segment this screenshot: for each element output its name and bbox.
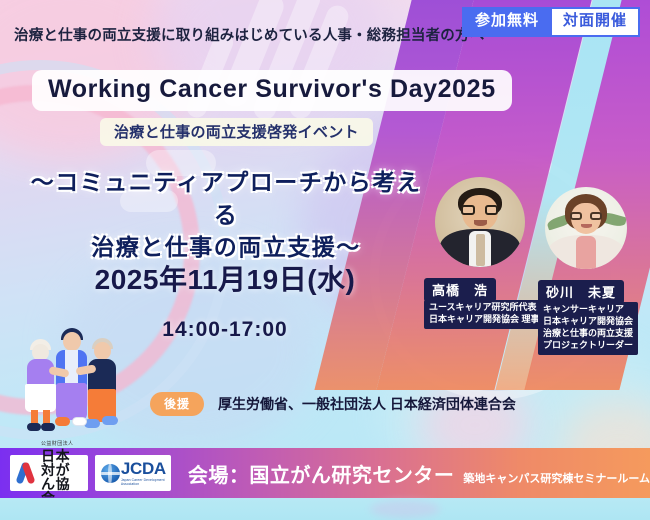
speaker-role-line: ユースキャリア研究所代表: [429, 302, 540, 314]
logo-name: JCDA: [121, 460, 166, 477]
speaker-photo-ring: [540, 182, 632, 274]
venue-name: 会場：国立がん研究センター: [188, 459, 455, 488]
event-poster: 治療と仕事の両立支援に取り組みはじめている人事・総務担当者の方へ 参加無料 対面…: [0, 0, 650, 520]
venue-detail: 築地キャンパス研究棟セミナールーム: [463, 470, 650, 486]
speaker-role: ユースキャリア研究所代表 日本キャリア開発協会 理事: [424, 300, 545, 329]
speaker-role-line: 日本キャリア開発協会: [543, 316, 633, 328]
venue-info: 会場：国立がん研究センター 築地キャンパス研究棟セミナールーム: [188, 459, 650, 488]
event-date: 2025年11月19日(水): [60, 258, 390, 298]
speaker-portrait-icon: [545, 187, 627, 269]
support-row: 後援 厚生労働省、一般社団法人 日本経済団体連合会: [150, 392, 516, 416]
subtitle-container: 治療と仕事の両立支援啓発イベント: [100, 118, 373, 146]
footer-strip: [0, 498, 650, 520]
speaker-role-line: プロジェクトリーダー: [543, 340, 633, 352]
badge-group: 参加無料 対面開催: [462, 7, 640, 37]
awareness-ribbon-icon: [16, 461, 36, 485]
footer-bar: 公益財団法人 日本対がん協会 JCDA Japan Career Develop…: [0, 448, 650, 498]
speaker-card-2: 砂川 未夏 キャンサーキャリア 日本キャリア開発協会 治療と仕事の両立支援 プロ…: [540, 182, 632, 274]
badge-onsite: 対面開催: [552, 7, 640, 37]
logo-name: 日本対がん協会: [41, 449, 82, 505]
headline: 〜コミュニティアプローチから考える 治療と仕事の両立支援〜: [26, 166, 426, 264]
logo-subtitle: Japan Career Development Association: [121, 479, 166, 486]
speaker-role-line: 日本キャリア開発協会 理事: [429, 314, 540, 326]
people-support-illustration-icon: [8, 326, 128, 444]
title-container: Working Cancer Survivor's Day2025: [32, 70, 512, 111]
speaker-role-line: 治療と仕事の両立支援: [543, 328, 633, 340]
page-subtitle: 治療と仕事の両立支援啓発イベント: [114, 121, 359, 142]
headline-line-1: 〜コミュニティアプローチから考える: [26, 166, 426, 231]
speaker-role: キャンサーキャリア 日本キャリア開発協会 治療と仕事の両立支援 プロジェクトリー…: [538, 302, 638, 355]
background-blob: [370, 500, 440, 518]
support-label: 後援: [150, 392, 204, 416]
logo-jcda: JCDA Japan Career Development Associatio…: [95, 455, 171, 491]
speaker-card-1: 高橋 浩 ユースキャリア研究所代表 日本キャリア開発協会 理事: [430, 172, 530, 272]
speaker-portrait-icon: [435, 177, 525, 267]
lead-text: 治療と仕事の両立支援に取り組みはじめている人事・総務担当者の方へ: [14, 24, 484, 45]
speaker-name: 砂川 未夏: [538, 280, 624, 304]
badge-free: 参加無料: [462, 7, 552, 37]
speaker-name: 高橋 浩: [424, 278, 496, 302]
logo-japan-cancer-society: 公益財団法人 日本対がん協会: [10, 455, 88, 491]
support-organizations: 厚生労働省、一般社団法人 日本経済団体連合会: [218, 394, 516, 414]
speaker-role-line: キャンサーキャリア: [543, 304, 633, 316]
speaker-photo-ring: [430, 172, 530, 272]
logo-superscript: 公益財団法人: [41, 442, 82, 447]
globe-icon: [101, 464, 120, 483]
page-title: Working Cancer Survivor's Day2025: [48, 75, 496, 104]
